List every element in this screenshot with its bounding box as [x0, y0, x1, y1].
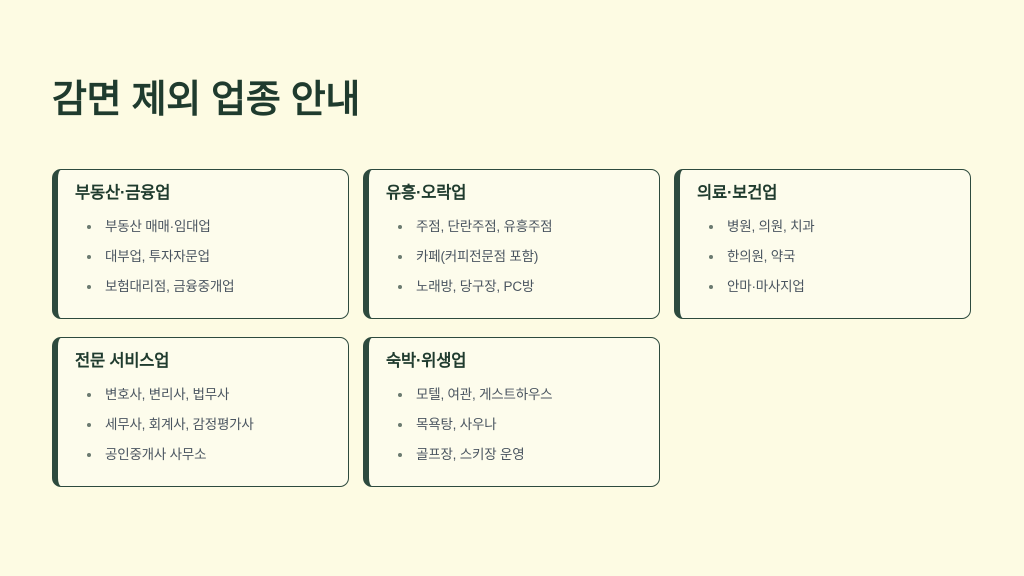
category-card-medical-health[interactable]: 의료·보건업 병원, 의원, 치과 한의원, 약국 안마·마사지업 — [674, 169, 971, 319]
bullet-dot-icon — [398, 423, 402, 427]
card-item-list: 주점, 단란주점, 유흥주점 카페(커피전문점 포함) 노래방, 당구장, PC… — [386, 212, 645, 302]
list-item-label: 부동산 매매·임대업 — [105, 219, 211, 234]
list-item: 세무사, 회계사, 감정평가사 — [75, 410, 334, 440]
card-title: 숙박·위생업 — [386, 352, 645, 372]
list-item: 보험대리점, 금융중개업 — [75, 272, 334, 302]
list-item-label: 주점, 단란주점, 유흥주점 — [416, 219, 552, 234]
bullet-dot-icon — [398, 285, 402, 289]
empty-grid-slot — [674, 337, 971, 487]
list-item-label: 공인중개사 사무소 — [105, 447, 206, 462]
bullet-dot-icon — [709, 225, 713, 229]
list-item-label: 목욕탕, 사우나 — [416, 417, 496, 432]
card-title: 전문 서비스업 — [75, 352, 334, 372]
list-item-label: 안마·마사지업 — [727, 279, 805, 294]
list-item: 병원, 의원, 치과 — [697, 212, 956, 242]
bullet-dot-icon — [709, 285, 713, 289]
card-item-list: 변호사, 변리사, 법무사 세무사, 회계사, 감정평가사 공인중개사 사무소 — [75, 380, 334, 470]
list-item: 카페(커피전문점 포함) — [386, 242, 645, 272]
list-item: 주점, 단란주점, 유흥주점 — [386, 212, 645, 242]
list-item-label: 골프장, 스키장 운영 — [416, 447, 524, 462]
category-card-professional-services[interactable]: 전문 서비스업 변호사, 변리사, 법무사 세무사, 회계사, 감정평가사 공인… — [52, 337, 349, 487]
bullet-dot-icon — [87, 453, 91, 457]
list-item-label: 카페(커피전문점 포함) — [416, 249, 538, 264]
bullet-dot-icon — [87, 255, 91, 259]
category-card-grid: 부동산·금융업 부동산 매매·임대업 대부업, 투자자문업 보험대리점, 금융중… — [52, 169, 970, 487]
category-card-lodging-sanitation[interactable]: 숙박·위생업 모텔, 여관, 게스트하우스 목욕탕, 사우나 골프장, 스키장 … — [363, 337, 660, 487]
page-title: 감면 제외 업종 안내 — [52, 78, 360, 124]
card-title: 의료·보건업 — [697, 184, 956, 204]
list-item: 부동산 매매·임대업 — [75, 212, 334, 242]
list-item: 안마·마사지업 — [697, 272, 956, 302]
card-item-list: 병원, 의원, 치과 한의원, 약국 안마·마사지업 — [697, 212, 956, 302]
list-item: 변호사, 변리사, 법무사 — [75, 380, 334, 410]
list-item-label: 대부업, 투자자문업 — [105, 249, 210, 264]
category-card-entertainment[interactable]: 유흥·오락업 주점, 단란주점, 유흥주점 카페(커피전문점 포함) 노래방, … — [363, 169, 660, 319]
slide-canvas: 감면 제외 업종 안내 부동산·금융업 부동산 매매·임대업 대부업, 투자자문… — [0, 0, 1024, 576]
bullet-dot-icon — [398, 255, 402, 259]
list-item-label: 모텔, 여관, 게스트하우스 — [416, 387, 552, 402]
card-item-list: 부동산 매매·임대업 대부업, 투자자문업 보험대리점, 금융중개업 — [75, 212, 334, 302]
list-item: 목욕탕, 사우나 — [386, 410, 645, 440]
category-card-real-estate-finance[interactable]: 부동산·금융업 부동산 매매·임대업 대부업, 투자자문업 보험대리점, 금융중… — [52, 169, 349, 319]
card-title: 부동산·금융업 — [75, 184, 334, 204]
bullet-dot-icon — [87, 393, 91, 397]
list-item-label: 세무사, 회계사, 감정평가사 — [105, 417, 254, 432]
bullet-dot-icon — [398, 393, 402, 397]
card-title: 유흥·오락업 — [386, 184, 645, 204]
list-item-label: 병원, 의원, 치과 — [727, 219, 815, 234]
bullet-dot-icon — [87, 423, 91, 427]
bullet-dot-icon — [398, 453, 402, 457]
list-item-label: 한의원, 약국 — [727, 249, 795, 264]
list-item-label: 노래방, 당구장, PC방 — [416, 279, 534, 294]
list-item: 모텔, 여관, 게스트하우스 — [386, 380, 645, 410]
list-item: 대부업, 투자자문업 — [75, 242, 334, 272]
list-item-label: 변호사, 변리사, 법무사 — [105, 387, 229, 402]
list-item: 공인중개사 사무소 — [75, 440, 334, 470]
list-item: 노래방, 당구장, PC방 — [386, 272, 645, 302]
list-item: 한의원, 약국 — [697, 242, 956, 272]
bullet-dot-icon — [709, 255, 713, 259]
bullet-dot-icon — [87, 225, 91, 229]
list-item: 골프장, 스키장 운영 — [386, 440, 645, 470]
bullet-dot-icon — [87, 285, 91, 289]
bullet-dot-icon — [398, 225, 402, 229]
list-item-label: 보험대리점, 금융중개업 — [105, 279, 234, 294]
card-item-list: 모텔, 여관, 게스트하우스 목욕탕, 사우나 골프장, 스키장 운영 — [386, 380, 645, 470]
